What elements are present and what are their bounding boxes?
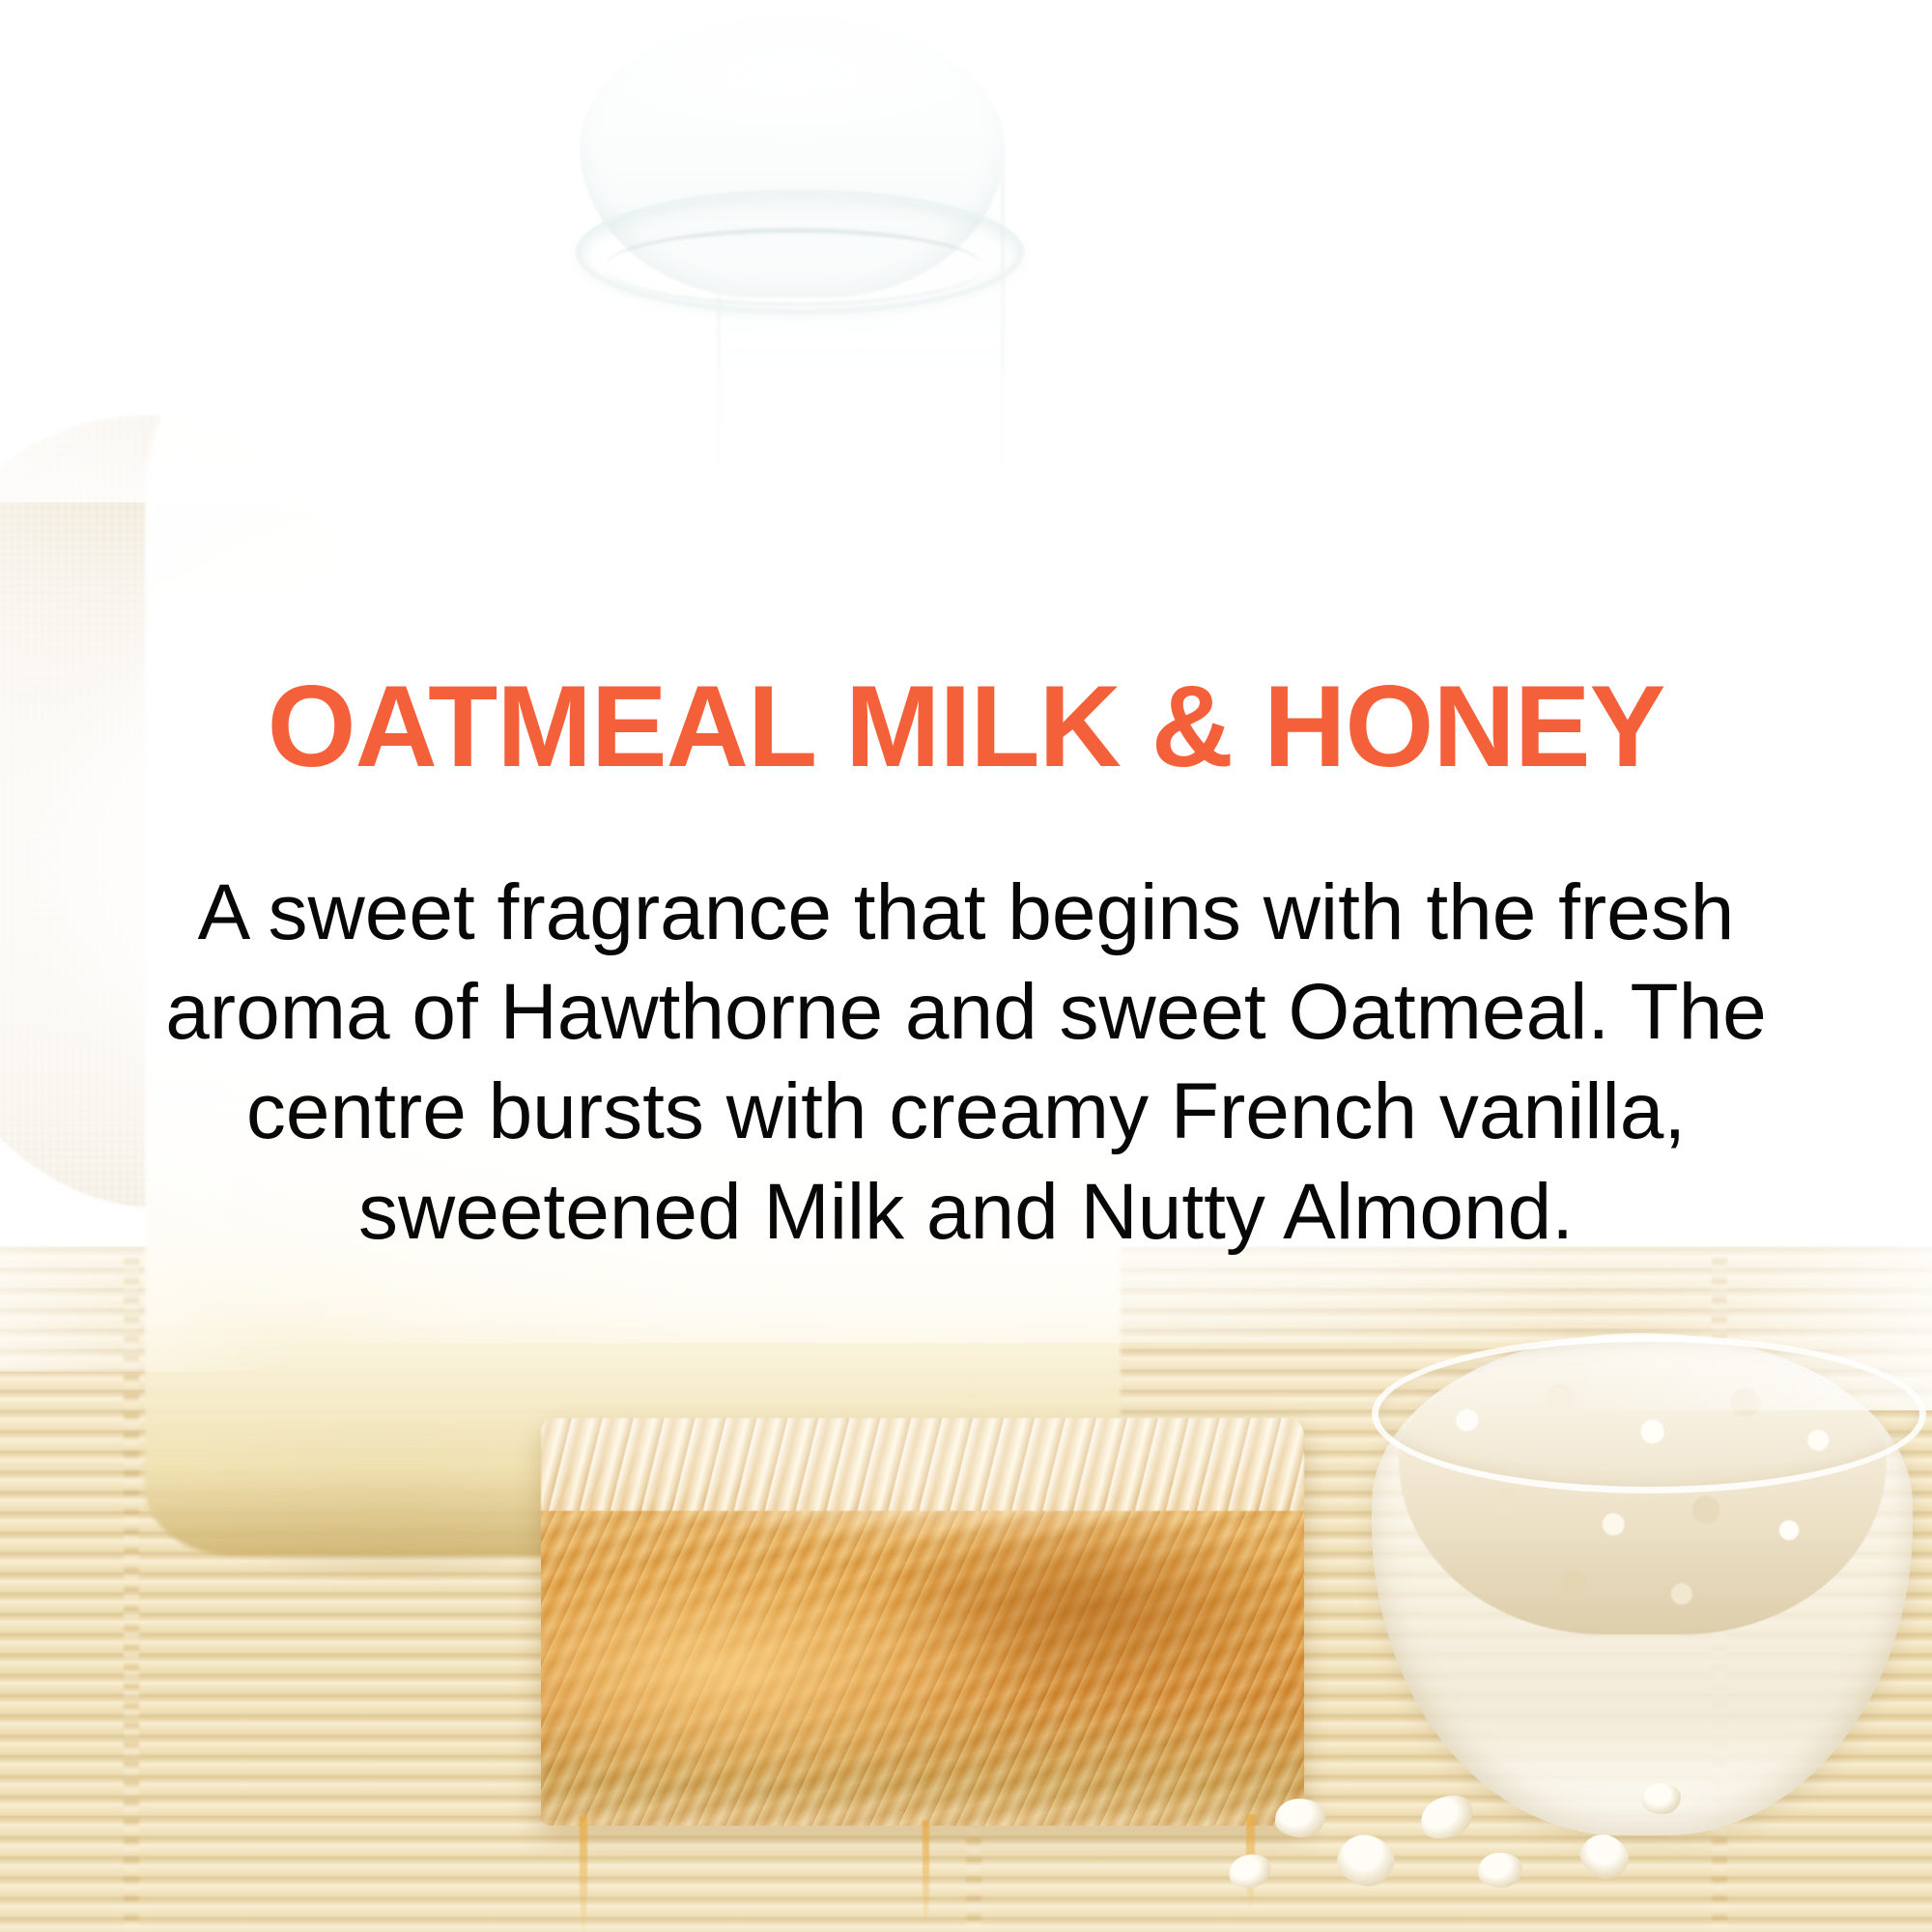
bamboo-mat-tie-middle <box>966 1256 981 1932</box>
glass-stopper-ridge <box>605 228 983 306</box>
bamboo-mat-tie-right <box>1712 1256 1727 1932</box>
product-description: A sweet fragrance that begins with the f… <box>29 863 1903 1262</box>
top-white-fade <box>0 0 1932 502</box>
honey-drip <box>580 1816 587 1932</box>
loose-oat-flake <box>1642 1783 1681 1814</box>
loose-oat-flake <box>1478 1853 1522 1888</box>
bamboo-mat <box>0 1246 1932 1932</box>
loose-oat-flake <box>1226 1851 1274 1891</box>
product-text-block: OATMEAL MILK & HONEY A sweet fragrance t… <box>0 667 1932 1262</box>
honey-drip <box>923 1821 929 1925</box>
burlap-sack-fringe <box>135 394 454 462</box>
milk-bottle-shadow <box>182 1420 597 1575</box>
glass-bottle-neck <box>717 145 1005 464</box>
loose-oat-flake <box>1331 1828 1400 1892</box>
loose-oat-flake <box>1573 1826 1635 1887</box>
glass-bowl-of-oats <box>1372 1333 1913 1835</box>
honeycomb-wax-cap <box>541 1418 1304 1511</box>
product-fragrance-card: OATMEAL MILK & HONEY A sweet fragrance t… <box>0 0 1932 1932</box>
loose-oat-flake <box>1275 1799 1325 1837</box>
honey-drip <box>1246 1814 1255 1907</box>
page-title: OATMEAL MILK & HONEY <box>14 667 1918 787</box>
description-line-2: aroma of Hawthorne and sweet Oatmeal. Th… <box>29 962 1903 1062</box>
oat-flakes-pile <box>1399 1345 1887 1634</box>
description-line-3: centre bursts with creamy French vanilla… <box>29 1062 1903 1161</box>
glass-stopper <box>580 17 1005 298</box>
loose-oat-flake <box>1414 1788 1480 1846</box>
glass-stopper-rim <box>576 189 1024 315</box>
bamboo-mat-tie-left <box>124 1256 139 1932</box>
description-line-4: sweetened Milk and Nutty Almond. <box>29 1162 1903 1262</box>
glass-bowl-rim <box>1372 1335 1926 1493</box>
description-line-1: A sweet fragrance that begins with the f… <box>29 863 1903 962</box>
honeycomb-block <box>541 1420 1304 1826</box>
